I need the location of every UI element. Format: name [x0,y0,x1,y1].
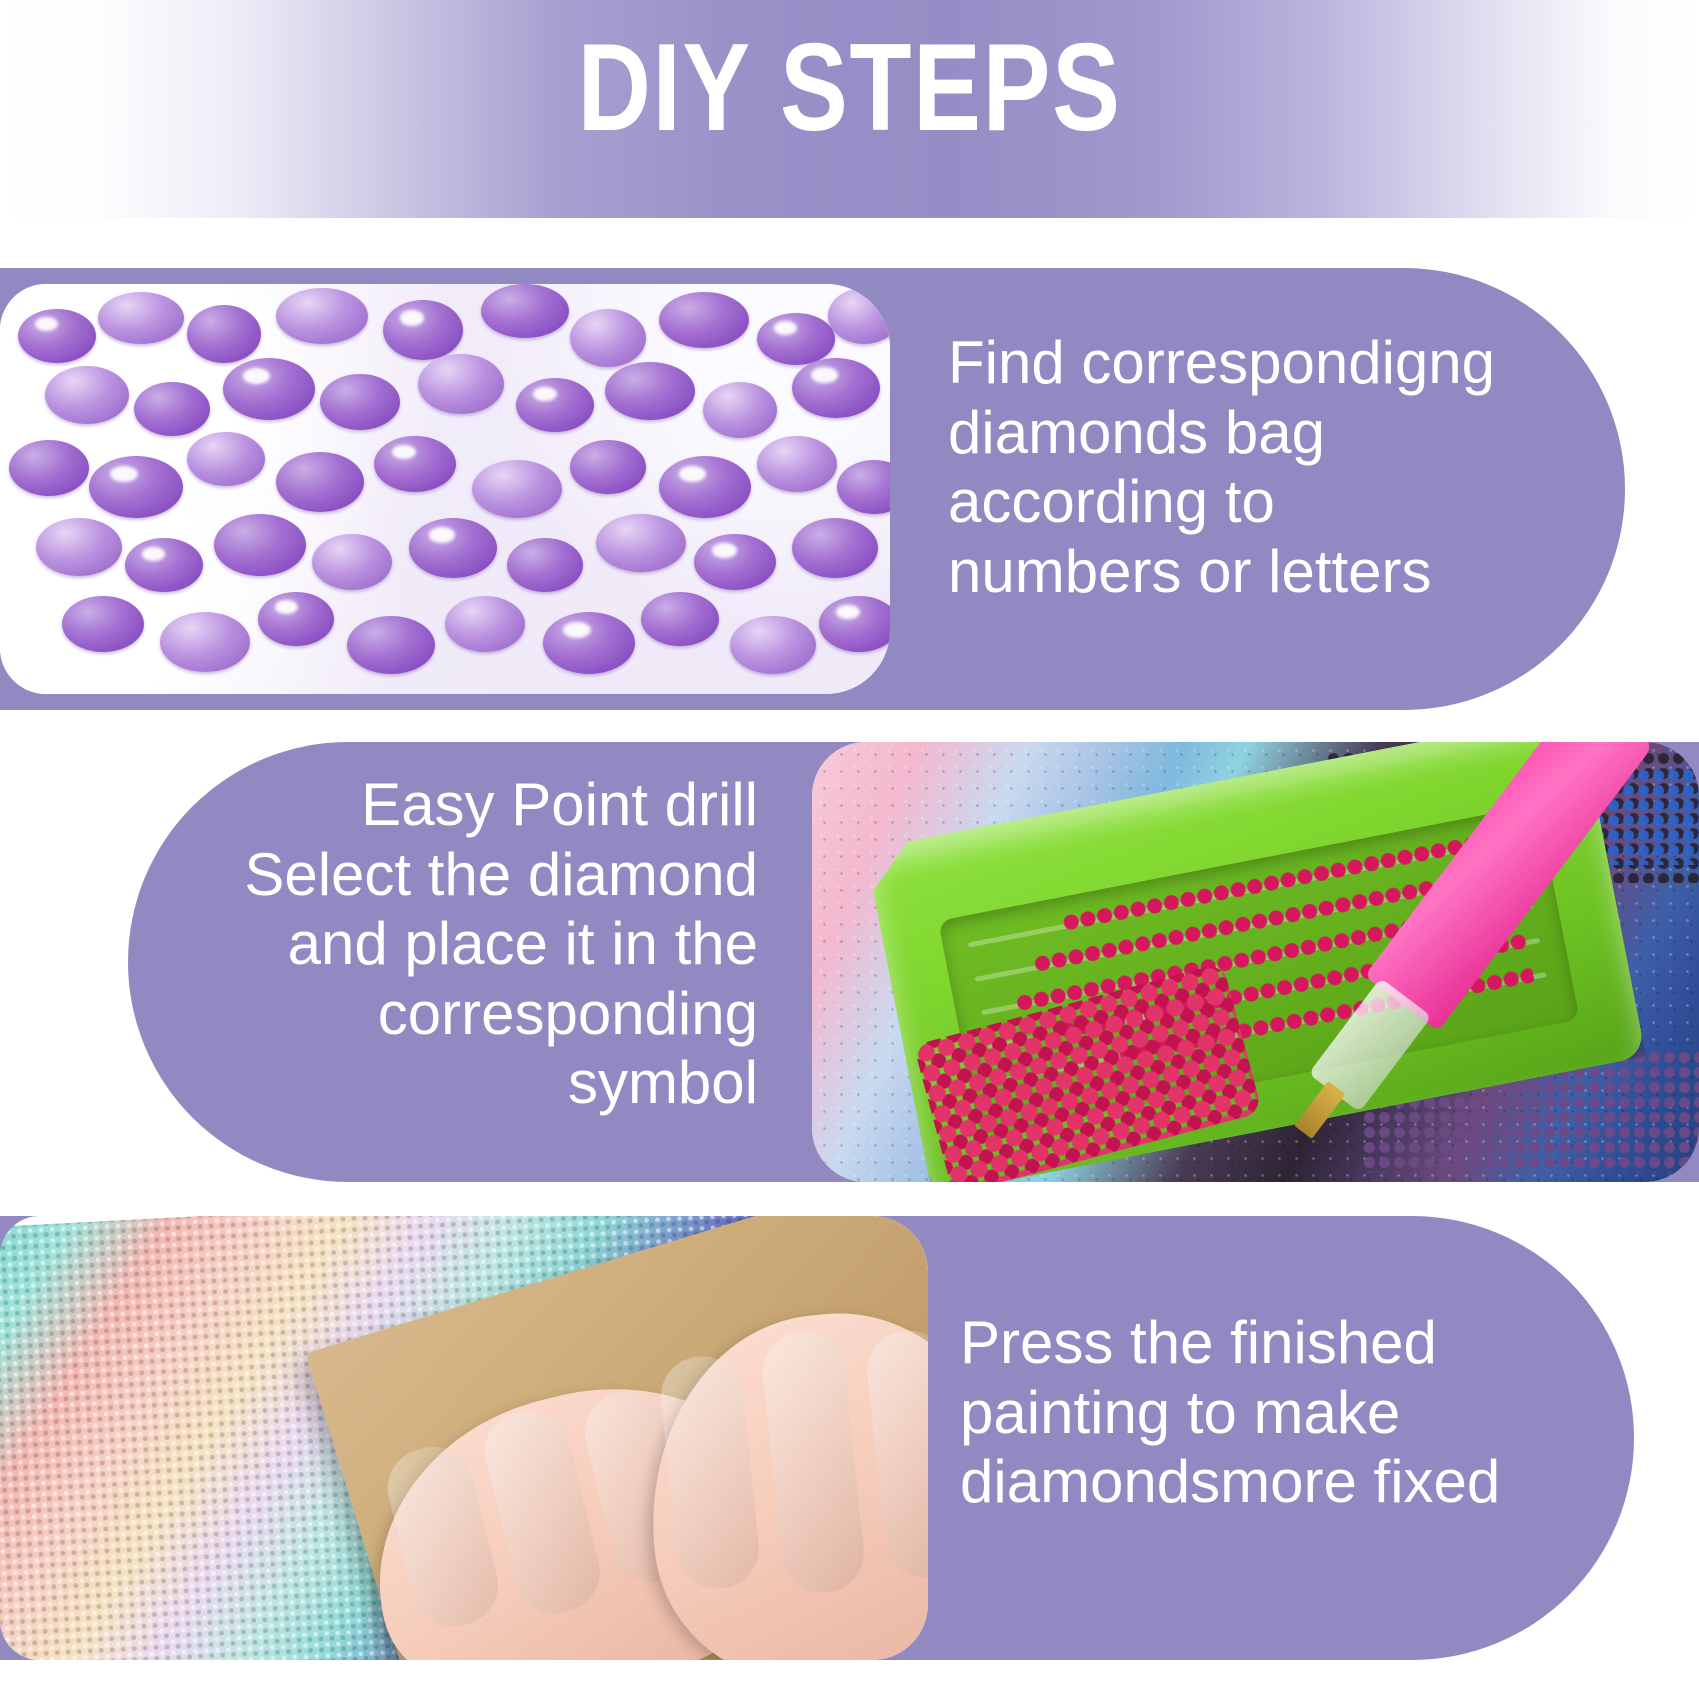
green-tray-pen-photo [812,742,1699,1182]
step-1-row: Find correspondigng diamonds bag accordi… [0,268,1699,710]
step-3-row: Note Book Press the finished painting to… [0,1216,1699,1660]
step-3-caption: Press the finished painting to make diam… [960,1308,1580,1517]
pressing-notebook-photo: Note Book [0,1216,928,1660]
page-header: DIY STEPS [0,0,1699,218]
step-2-row: Easy Point drill Select the diamond and … [0,742,1699,1182]
drills-image [0,284,890,694]
pen-tip [1294,1081,1345,1139]
press-image: Note Book [0,1216,928,1660]
tray-image [812,742,1699,1182]
step-2-caption: Easy Point drill Select the diamond and … [140,770,758,1118]
purple-diamond-drills-photo [0,284,890,694]
step-1-caption: Find correspondigng diamonds bag accordi… [948,328,1588,606]
page-title: DIY STEPS [153,22,1546,156]
